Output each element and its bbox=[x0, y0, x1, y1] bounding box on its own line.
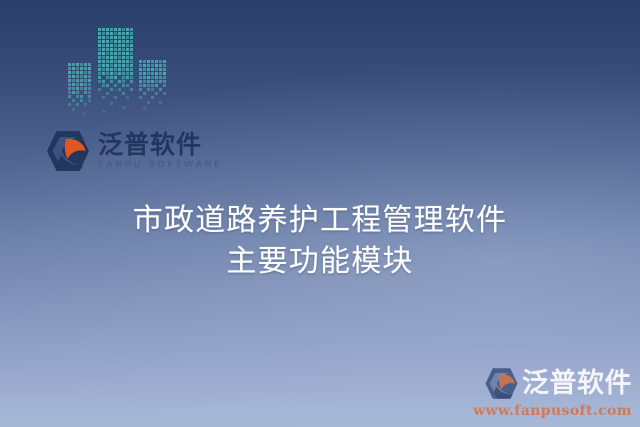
watermark-logo-row: 泛普软件 bbox=[473, 366, 632, 401]
fanpu-logo-icon bbox=[45, 128, 91, 174]
watermark-url: www.fanpusoft.com bbox=[473, 403, 632, 419]
brand-wordmark: 泛普软件 FANPU SOFTWARE bbox=[98, 132, 223, 170]
watermark: 泛普软件 www.fanpusoft.com bbox=[473, 366, 632, 419]
pixel-skyline-icon bbox=[64, 22, 174, 122]
brand-name-cn: 泛普软件 bbox=[98, 132, 223, 158]
page-title: 市政道路养护工程管理软件 主要功能模块 bbox=[0, 200, 640, 282]
slide-canvas: 泛普软件 FANPU SOFTWARE 市政道路养护工程管理软件 主要功能模块 … bbox=[0, 0, 640, 427]
fanpu-logo-watermark-icon bbox=[484, 366, 519, 401]
brand-name-en: FANPU SOFTWARE bbox=[98, 160, 223, 170]
title-line-1: 市政道路养护工程管理软件 bbox=[0, 200, 640, 241]
brand-logo: 泛普软件 FANPU SOFTWARE bbox=[45, 128, 223, 174]
pixel-skyline-decoration bbox=[64, 22, 174, 122]
title-line-2: 主要功能模块 bbox=[0, 241, 640, 282]
watermark-name-cn: 泛普软件 bbox=[522, 370, 632, 397]
